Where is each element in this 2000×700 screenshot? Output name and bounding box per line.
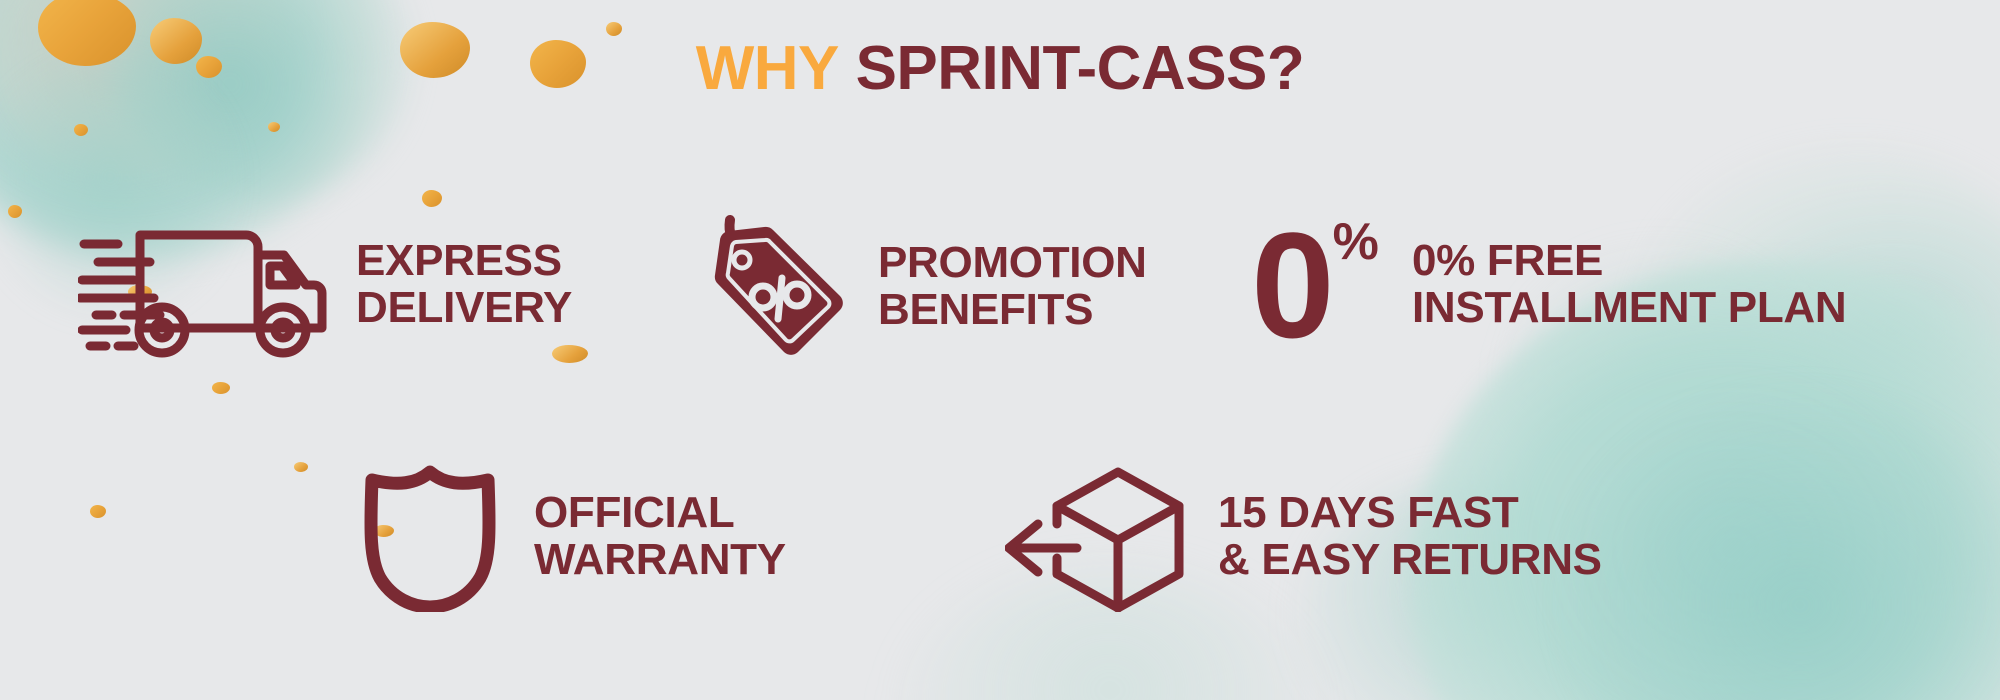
feature-express-delivery[interactable]: EXPRESS DELIVERY — [78, 210, 572, 360]
price-tag-percent-icon — [700, 212, 850, 362]
return-box-icon — [1005, 462, 1190, 612]
feature-label: OFFICIAL WARRANTY — [534, 490, 786, 583]
zero-percent-value: 0 — [1251, 210, 1330, 360]
feature-label: 0% FREE INSTALLMENT PLAN — [1412, 238, 1846, 331]
feature-official-warranty[interactable]: OFFICIAL WARRANTY — [360, 462, 786, 612]
feature-promotion-benefits[interactable]: PROMOTION BENEFITS — [700, 212, 1147, 362]
zero-percent-icon: 0 % — [1240, 210, 1390, 360]
feature-label: 15 DAYS FAST & EASY RETURNS — [1218, 490, 1602, 583]
shield-icon — [360, 462, 500, 612]
feature-label: EXPRESS DELIVERY — [356, 238, 572, 331]
promo-banner: WHY SPRINT-CASS? — [0, 0, 2000, 700]
feature-easy-returns[interactable]: 15 DAYS FAST & EASY RETURNS — [1005, 462, 1602, 612]
zero-percent-suffix: % — [1333, 216, 1379, 268]
feature-free-installment-plan[interactable]: 0 % 0% FREE INSTALLMENT PLAN — [1240, 210, 1846, 360]
delivery-truck-icon — [78, 210, 328, 360]
feature-label: PROMOTION BENEFITS — [878, 240, 1147, 333]
feature-list: EXPRESS DELIVERY PROMOTION BENEFITS — [0, 0, 2000, 700]
